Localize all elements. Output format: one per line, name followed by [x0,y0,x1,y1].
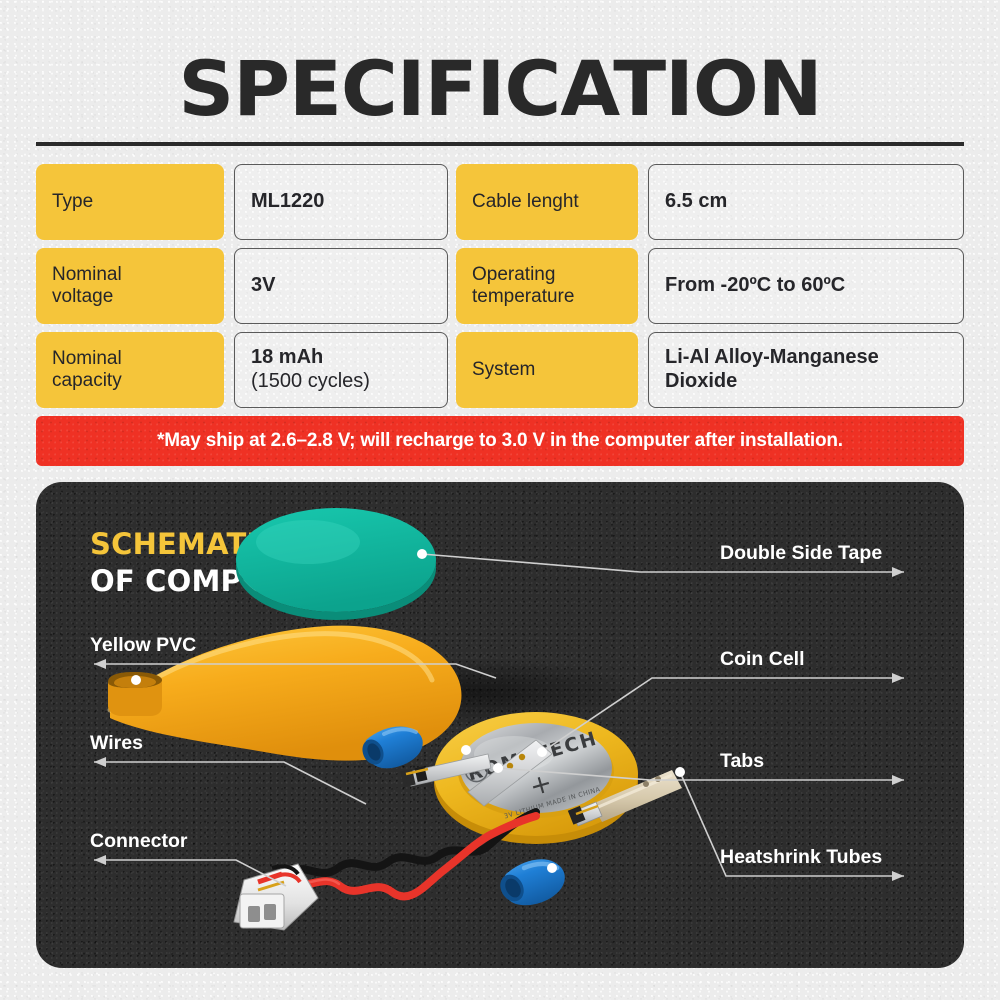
spec-value-cable-lenght: 6.5 cm [648,164,964,240]
spec-value-text: 6.5 cm [665,190,727,214]
page-title: SPECIFICATION [0,44,1000,133]
callout-label-connector: Connector [90,830,188,853]
callout-label-yellow-pvc: Yellow PVC [90,634,196,657]
spec-value-text: 18 mAh [251,346,323,368]
callout-label-wires: Wires [90,732,143,755]
schematic-panel: SCHEMATIC LAYOUT OF COMPONENTS [36,482,964,968]
spec-value-text: From -20ºC to 60ºC [665,274,845,298]
spec-label-text: Type [52,191,93,213]
spec-value-nominal-voltage: 3V [234,248,448,324]
spec-value-type: ML1220 [234,164,448,240]
spec-table-right: Cable lenght 6.5 cm Operatingtemperature… [456,164,964,408]
spec-value-nominal-capacity: 18 mAh (1500 cycles) [234,332,448,408]
spec-label-text: Cable lenght [472,191,579,213]
spec-label-text: Nominalvoltage [52,264,122,309]
spec-label-text: Nominalcapacity [52,348,122,393]
spec-label-nominal-voltage: Nominalvoltage [36,248,224,324]
shipping-voltage-notice: *May ship at 2.6–2.8 V; will recharge to… [36,416,964,466]
spec-value-text: 3V [251,274,275,298]
spec-label-cable-lenght: Cable lenght [456,164,638,240]
notice-text: *May ship at 2.6–2.8 V; will recharge to… [157,430,843,452]
spec-value-system: Li-Al Alloy-Manganese Dioxide [648,332,964,408]
spec-table-left: Type ML1220 Nominalvoltage 3V Nominalcap… [36,164,448,408]
spec-label-system: System [456,332,638,408]
spec-value-operating-temperature: From -20ºC to 60ºC [648,248,964,324]
title-divider [36,142,964,146]
spec-value-text: Li-Al Alloy-Manganese Dioxide [665,346,947,393]
spec-label-text: System [472,359,535,381]
spec-value-subtext: (1500 cycles) [251,370,370,394]
callout-label-double-side-tape: Double Side Tape [720,542,882,565]
spec-label-nominal-capacity: Nominalcapacity [36,332,224,408]
callout-label-tabs: Tabs [720,750,764,773]
spec-label-operating-temperature: Operatingtemperature [456,248,638,324]
callout-label-coin-cell: Coin Cell [720,648,805,671]
spec-label-text: Operatingtemperature [472,264,574,309]
spec-value-text: ML1220 [251,190,324,214]
spec-label-type: Type [36,164,224,240]
callout-label-heatshrink-tubes: Heatshrink Tubes [720,846,882,869]
